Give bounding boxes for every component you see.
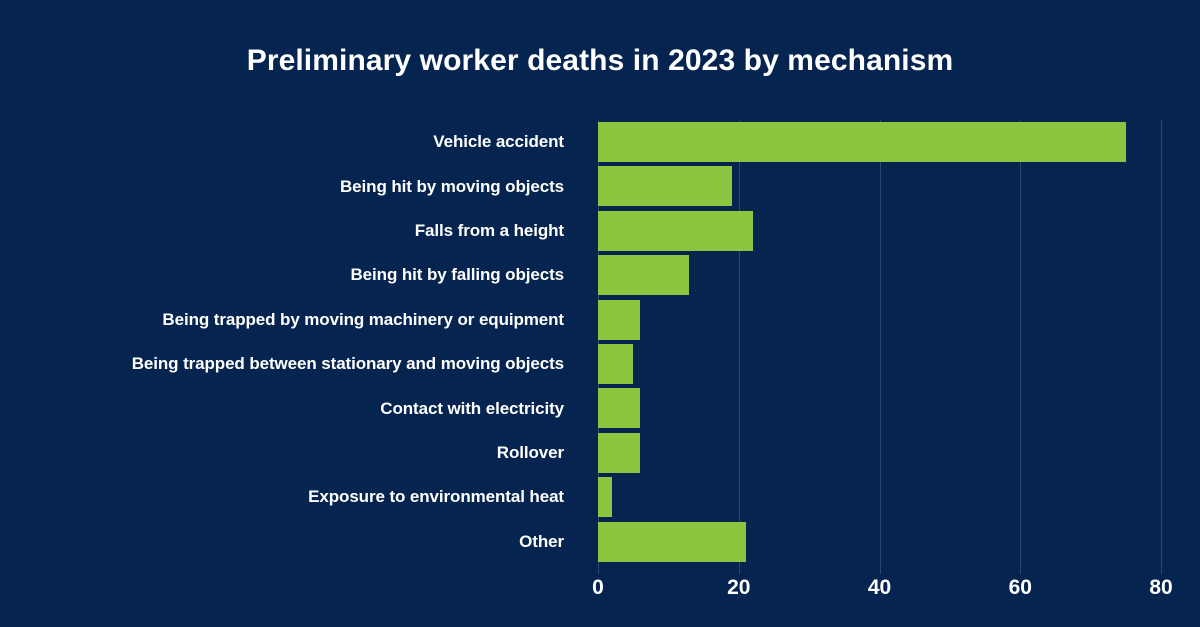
x-tick-80	[1161, 564, 1162, 574]
bar-row[interactable]	[598, 342, 1161, 386]
bar[interactable]	[598, 344, 633, 384]
x-tick-label: 20	[727, 576, 750, 600]
bar[interactable]	[598, 388, 640, 428]
y-axis-label: Other	[0, 520, 581, 564]
bar-series	[598, 120, 1161, 564]
bar-row[interactable]	[598, 120, 1161, 164]
y-axis-label: Falls from a height	[0, 209, 581, 253]
bar-row[interactable]	[598, 209, 1161, 253]
bar-row[interactable]	[598, 253, 1161, 297]
y-axis-label: Contact with electricity	[0, 386, 581, 430]
x-tick-20	[739, 564, 740, 574]
bar[interactable]	[598, 300, 640, 340]
y-axis-label: Being hit by moving objects	[0, 164, 581, 208]
chart-figure: Preliminary worker deaths in 2023 by mec…	[0, 0, 1200, 627]
x-tick-label: 60	[1009, 576, 1032, 600]
bar[interactable]	[598, 211, 753, 251]
bar[interactable]	[598, 477, 612, 517]
x-tick-label: 40	[868, 576, 891, 600]
x-tick-label: 80	[1149, 576, 1172, 600]
plot-area	[598, 120, 1161, 564]
x-tick-40	[880, 564, 881, 574]
bar[interactable]	[598, 255, 689, 295]
y-axis-label: Being trapped by moving machinery or equ…	[0, 298, 581, 342]
chart-title: Preliminary worker deaths in 2023 by mec…	[0, 44, 1200, 78]
y-axis-label: Rollover	[0, 431, 581, 475]
bar-row[interactable]	[598, 520, 1161, 564]
x-tick-label: 0	[592, 576, 604, 600]
y-axis-label: Vehicle accident	[0, 120, 581, 164]
y-axis-label: Exposure to environmental heat	[0, 475, 581, 519]
bar-row[interactable]	[598, 298, 1161, 342]
bar[interactable]	[598, 166, 732, 206]
bar[interactable]	[598, 122, 1126, 162]
bar-row[interactable]	[598, 431, 1161, 475]
bar[interactable]	[598, 433, 640, 473]
y-axis-label: Being trapped between stationary and mov…	[0, 342, 581, 386]
x-axis: 020406080	[598, 564, 1161, 614]
x-tick-60	[1020, 564, 1021, 574]
y-axis-label: Being hit by falling objects	[0, 253, 581, 297]
y-axis-category-labels: Vehicle accidentBeing hit by moving obje…	[0, 120, 581, 564]
bar-row[interactable]	[598, 164, 1161, 208]
gridline-80	[1161, 120, 1162, 564]
x-tick-0	[598, 564, 599, 574]
bar-row[interactable]	[598, 475, 1161, 519]
bar-row[interactable]	[598, 386, 1161, 430]
bar[interactable]	[598, 522, 746, 562]
